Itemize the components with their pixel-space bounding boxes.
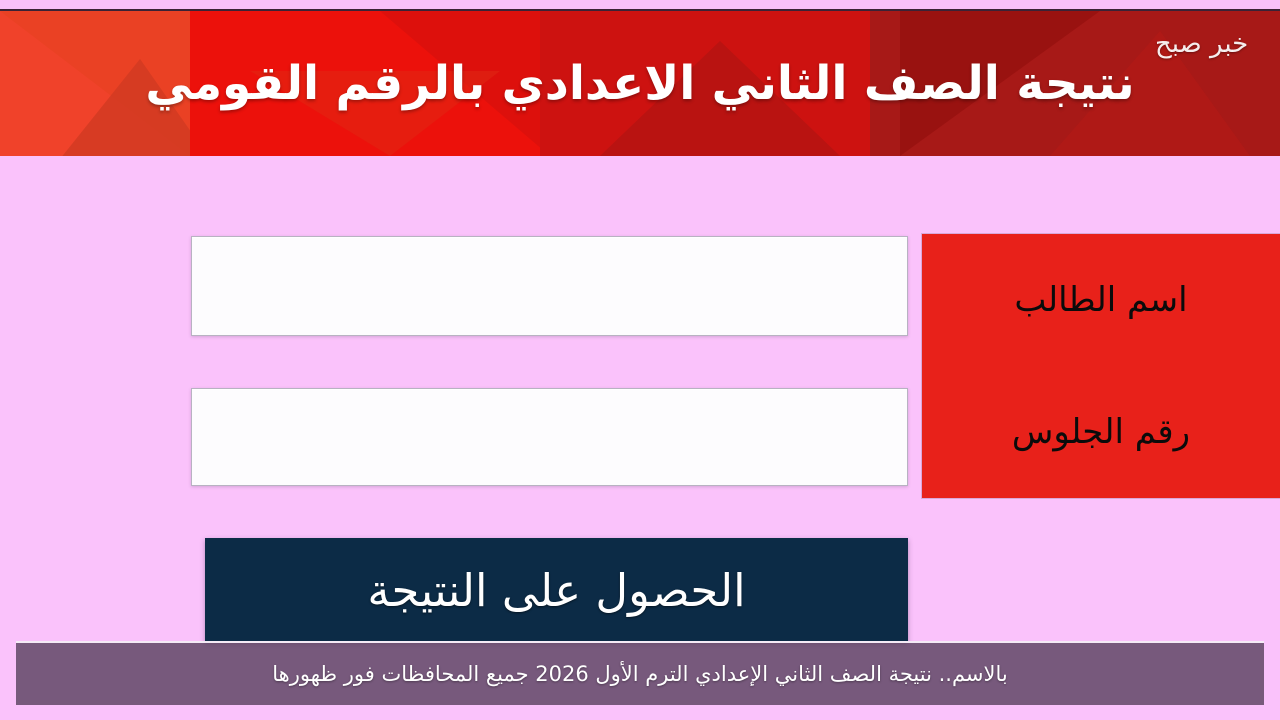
result-form: اسم الطالب رقم الجلوس الحصول على النتيجة [0,156,1280,720]
student-name-input[interactable] [192,237,907,335]
caption-text: بالاسم.. نتيجة الصف الثاني الإعدادي التر… [272,662,1008,686]
field-labels-panel: اسم الطالب رقم الجلوس [922,234,1280,498]
caption-overlay-bar: بالاسم.. نتيجة الصف الثاني الإعدادي التر… [16,641,1264,707]
get-result-button[interactable]: الحصول على النتيجة [205,538,908,642]
site-watermark: خبر صبح [1155,29,1248,59]
bottom-pink-strip [0,705,1280,720]
label-student-name: اسم الطالب [922,234,1280,366]
banner-title: نتيجة الصف الثاني الاعدادي بالرقم القومي [0,11,1280,156]
top-pink-strip [0,0,1280,9]
page-root: نتيجة الصف الثاني الاعدادي بالرقم القومي… [0,0,1280,720]
student-name-field[interactable] [191,236,908,336]
seat-number-field[interactable] [191,388,908,486]
seat-number-input[interactable] [192,389,907,485]
header-banner: نتيجة الصف الثاني الاعدادي بالرقم القومي… [0,11,1280,156]
label-seat-number: رقم الجلوس [922,366,1280,498]
